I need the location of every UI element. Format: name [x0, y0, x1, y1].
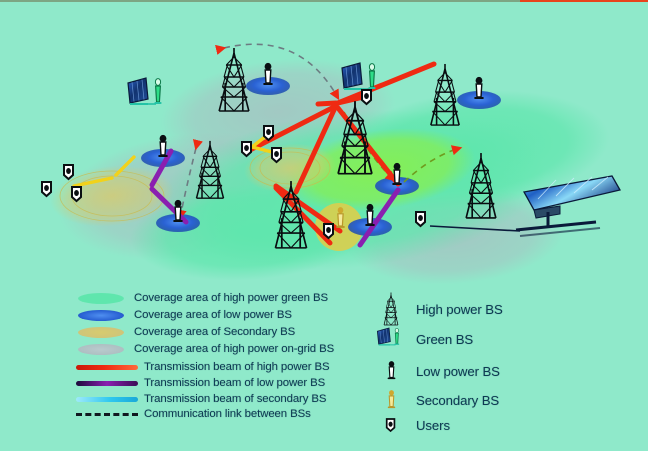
legend-node-label-2: Low power BS	[416, 364, 500, 379]
legend-beam-row-2: Transmission beam of secondary BS	[76, 393, 326, 405]
coverage-green-ellipse-icon	[78, 293, 124, 304]
legend-node-row-2: Low power BS	[374, 360, 500, 382]
legend-beam-label-0: Transmission beam of high power BS	[144, 361, 329, 373]
legend-beam-label-2: Transmission beam of secondary BS	[144, 393, 326, 405]
legend-coverage-label-2: Coverage area of Secondary BS	[134, 326, 295, 338]
legend-node-label-4: Users	[416, 418, 450, 433]
legend-node-row-1: Green BS	[374, 326, 473, 352]
legend-node-row-0: High power BS	[374, 292, 503, 326]
coverage-gray-ellipse-icon	[78, 344, 124, 355]
coverage-blue-ellipse-icon	[78, 310, 124, 321]
legend-node-row-3: Secondary BS	[374, 389, 499, 411]
small-yellow-tower-icon	[374, 389, 408, 411]
legend-coverage-label-1: Coverage area of low power BS	[134, 309, 292, 321]
beam-purple-line-icon	[76, 381, 138, 386]
legend-beam-row-3: Communication link between BSs	[76, 408, 311, 420]
handset-user-icon	[374, 417, 408, 433]
legend-coverage-row-3: Coverage area of high power on-grid BS	[78, 343, 334, 355]
legend-coverage-label-3: Coverage area of high power on-grid BS	[134, 343, 334, 355]
small-black-tower-icon	[374, 360, 408, 382]
legend-node-label-1: Green BS	[416, 332, 473, 347]
legend-coverage-row-2: Coverage area of Secondary BS	[78, 326, 295, 338]
link-dashed-line-icon	[76, 413, 138, 416]
legend-beam-row-0: Transmission beam of high power BS	[76, 361, 329, 373]
legend-coverage-label-0: Coverage area of high power green BS	[134, 292, 328, 304]
legend-coverage-row-1: Coverage area of low power BS	[78, 309, 292, 321]
coverage-tan-ellipse-icon	[78, 327, 124, 338]
legend-node-row-4: Users	[374, 417, 450, 433]
legend-node-label-3: Secondary BS	[416, 393, 499, 408]
solar-panel-green-tower-icon	[374, 326, 408, 352]
legend-beam-label-1: Transmission beam of low power BS	[144, 377, 325, 389]
beam-cyan-line-icon	[76, 397, 138, 402]
legend: Coverage area of high power green BS Cov…	[0, 284, 648, 451]
legend-coverage-row-0: Coverage area of high power green BS	[78, 292, 328, 304]
legend-beam-row-1: Transmission beam of low power BS	[76, 377, 325, 389]
figure-canvas: Coverage area of high power green BS Cov…	[0, 0, 648, 451]
lattice-tower-icon	[374, 292, 408, 326]
legend-node-label-0: High power BS	[416, 302, 503, 317]
legend-beam-label-3: Communication link between BSs	[144, 408, 311, 420]
beam-red-line-icon	[76, 365, 138, 370]
